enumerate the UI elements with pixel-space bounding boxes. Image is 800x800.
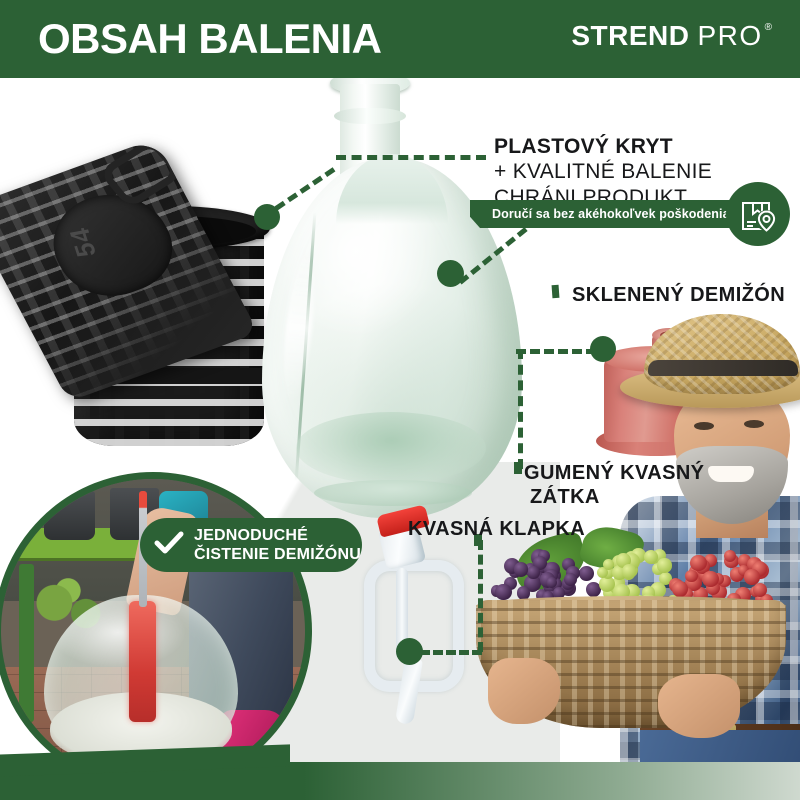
dash-airlock-horizontal [420,650,482,655]
grape [622,564,636,578]
grape [579,566,594,581]
check-icon [154,530,184,561]
straw-hat [644,314,800,394]
photo-flower-pot-left [44,491,96,540]
callout-kvasna-klapka: KVASNÁ KLAPKA [408,517,585,541]
grape [744,569,759,584]
badge-line-2: ČISTENIE DEMIŽÓNU [194,546,361,563]
dot-plastovy-kryt [254,204,280,230]
dash-stopper-horizontal [516,349,596,354]
badge-line-1: JEDNODUCHÉ [194,527,308,544]
header-bar: OBSAH BALENIA STREND PRO ® [0,0,800,78]
grape [657,558,671,572]
callout-plastovy-kryt: PLASTOVÝ KRYT + KVALITNÉ BALENIE CHRÁNI … [494,134,712,211]
grape [514,562,528,576]
man-right-hand [658,674,740,738]
callout-plastovy-kryt-title: PLASTOVÝ KRYT [494,134,712,159]
shipping-ribbon-text: Doručí sa bez akéhokoľvek poškodenia [492,207,730,221]
man-left-hand [488,658,560,724]
demijohn-bottom-glass [296,412,486,484]
callout-skleneny-demizon: SKLENENÝ DEMIŽÓN [572,283,785,307]
black-plastic-basket: 54 [18,160,288,460]
logo-trademark-symbol: ® [765,22,772,34]
easy-cleaning-badge-text: JEDNODUCHÉ ČISTENIE DEMIŽÓNU [194,526,361,564]
package-location-icon [726,182,790,246]
grape [685,570,698,583]
brand-logo: STREND PRO ® [571,20,772,52]
dash-plastovy-kryt-horizontal [336,155,486,160]
footer-bar [0,762,800,800]
callout-gumeny-kvasny-zatka-line-1: GUMENÝ KVASNÝ [524,461,704,485]
demijohn-base [314,480,472,506]
tick-gumeny-kvasny-zatka [514,462,522,474]
tick-skleneny-demizon [552,285,560,298]
dash-stopper-vertical [518,349,523,469]
callout-gumeny-kvasny-zatka-line-2: ZÁTKA [530,485,704,509]
callout-kvasna-klapka-title: KVASNÁ KLAPKA [408,517,585,541]
shipping-ribbon: Doručí sa bez akéhokoľvek poškodenia [470,200,738,228]
callout-skleneny-demizon-title: SKLENENÝ DEMIŽÓN [572,283,785,307]
dot-skleneny-demizon [437,260,464,287]
grape [644,550,658,564]
grape [527,566,539,578]
demijohn-neck-ring [334,108,406,124]
infographic-canvas: 54 [0,0,800,800]
dot-kvasna-klapka [396,638,423,665]
dot-gumeny-kvasny-zatka [590,336,616,362]
logo-secondary-text: PRO [697,20,762,52]
hat-band [648,360,798,376]
grape [495,584,512,601]
logo-primary-text: STREND [571,20,689,52]
man-right-eye [744,420,764,428]
fermentation-airlock [352,508,472,728]
grape [672,581,688,597]
man-smile [708,466,754,482]
callout-plastovy-kryt-subtitle-1: + KVALITNÉ BALENIE [494,159,712,185]
man-left-eye [694,422,714,430]
callout-gumeny-kvasny-zatka: GUMENÝ KVASNÝ ZÁTKA [524,461,704,509]
photo-cleaning-brush [129,601,156,723]
dash-airlock-vertical [478,540,483,652]
page-title: OBSAH BALENIA [38,14,382,64]
hat-weave-pattern [644,314,800,394]
grape [753,583,767,597]
grape [702,571,718,587]
grape [564,573,577,586]
easy-cleaning-badge: JEDNODUCHÉ ČISTENIE DEMIŽÓNU [140,518,362,572]
